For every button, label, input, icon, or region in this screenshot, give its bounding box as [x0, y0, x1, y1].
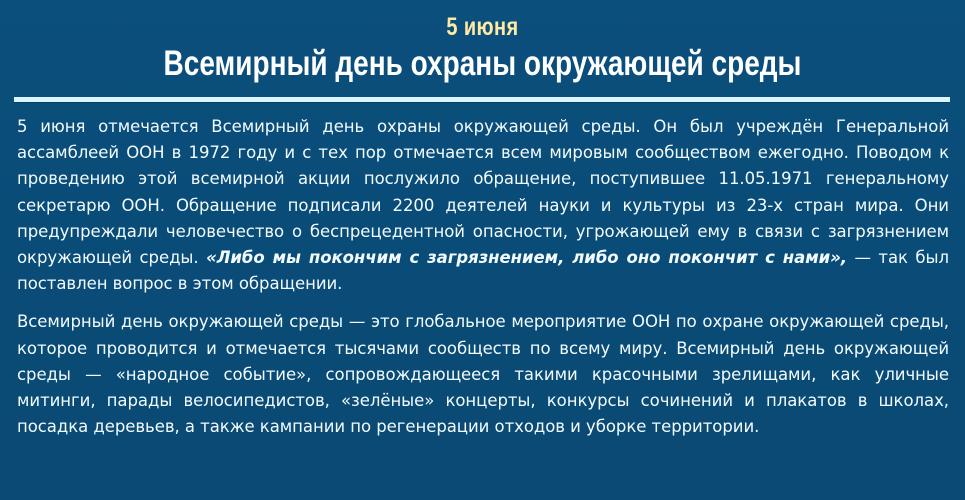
paragraph-1-segment-1: 5 июня отмечается Всемирный день охраны …	[17, 117, 949, 267]
slide-root: 5 июня Всемирный день охраны окружающей …	[0, 0, 965, 500]
slide-header: 5 июня Всемирный день охраны окружающей …	[0, 0, 965, 84]
header-divider	[14, 97, 950, 102]
page-title: Всемирный день охраны окружающей среды	[97, 44, 869, 84]
slide-body: 5 июня отмечается Всемирный день охраны …	[17, 114, 949, 440]
paragraph-1: 5 июня отмечается Всемирный день охраны …	[17, 114, 949, 297]
paragraph-2-segment-1: Всемирный день окружающей среды — это гл…	[17, 312, 949, 436]
paragraph-1-quote: «Либо мы покончим с загрязнением, либо о…	[206, 248, 847, 267]
header-date-eyebrow: 5 июня	[97, 14, 869, 41]
paragraph-2: Всемирный день окружающей среды — это гл…	[17, 309, 949, 440]
